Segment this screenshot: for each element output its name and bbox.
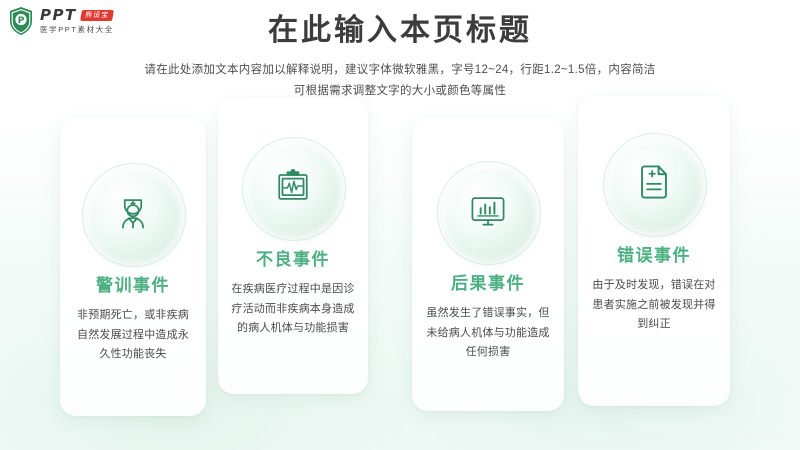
card-body: 由于及时发现，错误在对患者实施之前被发现并得到纠正 [578,276,730,334]
icon-badge [87,168,179,260]
icon-badge [608,138,700,230]
page-header: 在此输入本页标题 请在此处添加文本内容加以解释说明，建议字体微软雅黑，字号12~… [0,14,800,103]
icon-badge [247,142,339,234]
clipboard-ecg-icon [271,164,315,213]
card-title: 后果事件 [451,274,525,294]
brand-logo[interactable]: P PPT 熊设宝 医学PPT素材大全 [8,6,114,36]
page-subtitle: 请在此处添加文本内容加以解释说明，建议字体微软雅黑，字号12~24，行距1.2~… [0,60,800,103]
brand-subtitle: 医学PPT素材大全 [40,26,114,34]
card-item[interactable]: 后果事件 虽然发生了错误事实，但未给病人机体与功能造成任何损害 [412,118,564,411]
card-title: 错误事件 [617,246,691,266]
subtitle-line-1: 请在此处添加文本内容加以解释说明，建议字体微软雅黑，字号12~24，行距1.2~… [0,60,800,81]
card-item[interactable]: 错误事件 由于及时发现，错误在对患者实施之前被发现并得到纠正 [578,96,730,406]
card-item[interactable]: 不良事件 在疾病医疗过程中是因诊疗活动而非疾病本身造成的病人机体与功能损害 [218,98,368,394]
brand-badge: 熊设宝 [80,10,114,21]
card-body: 虽然发生了错误事实，但未给病人机体与功能造成任何损害 [412,304,564,362]
brand-name: PPT [40,8,77,23]
icon-badge [442,166,534,258]
subtitle-line-2: 可根据需求调整文字的大小或颜色等属性 [0,81,800,102]
card-title: 警训事件 [96,276,170,296]
card-title: 不良事件 [256,250,330,270]
card-item[interactable]: 警训事件 非预期死亡，或非疾病自然发展过程中造成永久性功能丧失 [60,118,206,416]
card-body: 非预期死亡，或非疾病自然发展过程中造成永久性功能丧失 [60,306,206,364]
document-plus-icon [632,160,676,209]
monitor-chart-icon [466,188,510,237]
doctor-icon [111,190,155,239]
shield-icon: P [8,6,34,36]
page-title: 在此输入本页标题 [0,14,800,47]
watermark: www.ppter.com [694,430,786,440]
svg-text:P: P [18,16,25,26]
card-body: 在疾病医疗过程中是因诊疗活动而非疾病本身造成的病人机体与功能损害 [218,280,368,338]
